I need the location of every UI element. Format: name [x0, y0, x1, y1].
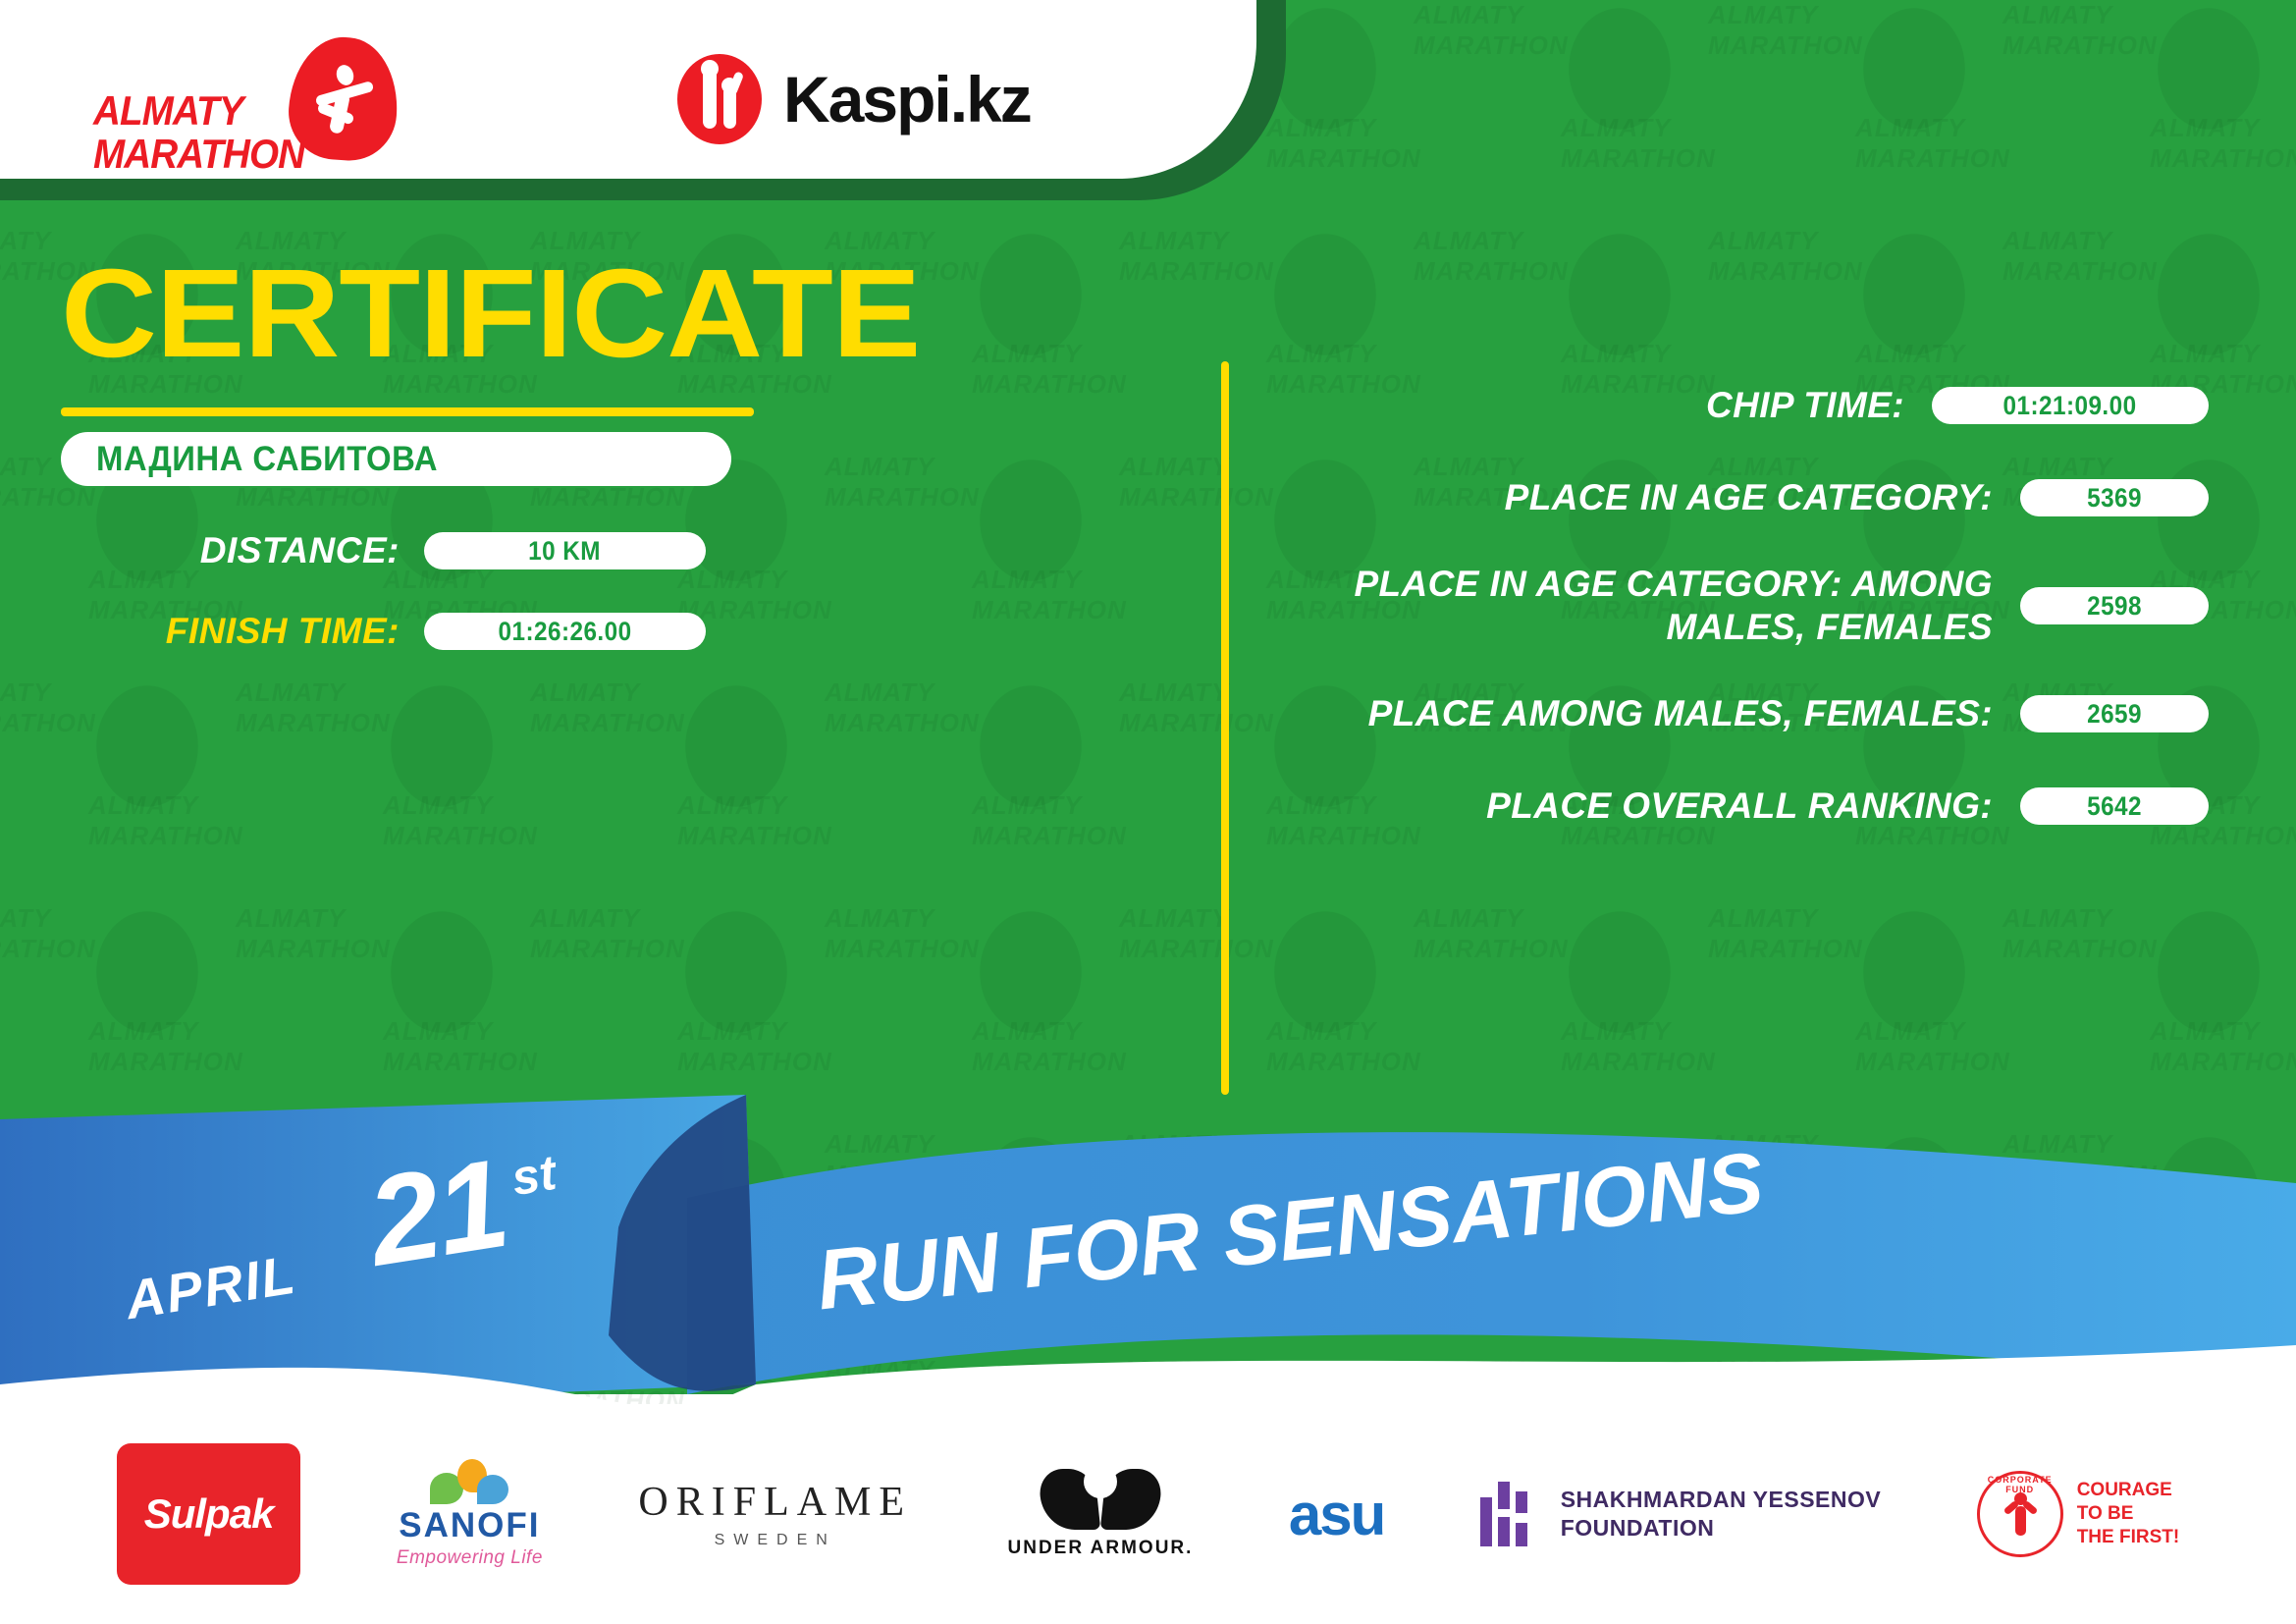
sponsor-oriflame-label: ORIFLAME — [638, 1479, 912, 1526]
stat-label: PLACE AMONG MALES, FEMALES: — [1276, 692, 2020, 735]
stat-value: 5369 — [2087, 483, 2142, 514]
yessenov-foundation-icon — [1480, 1482, 1541, 1546]
sponsor-sanofi-tagline: Empowering Life — [397, 1547, 543, 1569]
stat-value: 5642 — [2087, 791, 2142, 822]
sponsor-courage-fund: CORPORATE FUND COURAGE TO BE THE FIRST! — [1977, 1455, 2180, 1573]
stat-label: PLACE IN AGE CATEGORY: AMONG MALES, FEMA… — [1276, 563, 2020, 649]
sponsor-under-armour-label: UNDER ARMOUR. — [1008, 1538, 1194, 1559]
almaty-marathon-logo-line1: ALMATY — [93, 88, 243, 133]
certificate-row-label: DISTANCE: — [61, 530, 424, 571]
column-divider — [1221, 361, 1229, 1095]
certificate-row-value: 01:26:26.00 — [498, 617, 631, 647]
kaspi-people-icon — [677, 54, 762, 144]
sponsor-courage-label-line2: TO BE — [2077, 1502, 2180, 1526]
event-day-suffix: st — [507, 1144, 560, 1207]
stat-value-pill: 5642 — [2020, 787, 2209, 825]
stat-value-pill: 2598 — [2020, 587, 2209, 624]
sanofi-icon — [428, 1459, 510, 1504]
event-month: APRIL — [121, 1243, 300, 1332]
sponsor-asu: asu — [1289, 1455, 1384, 1573]
sponsor-yessenov-label-line1: SHAKHMARDAN YESSENOV — [1561, 1486, 1882, 1514]
sponsor-sulpak-label: Sulpak — [144, 1490, 274, 1538]
certificate-row-value-pill: 01:26:26.00 — [424, 613, 706, 650]
participant-name-field: МАДИНА САБИТОВА — [61, 432, 731, 486]
event-day: 21 — [360, 1141, 514, 1286]
kaspi-logo: Kaspi.kz — [677, 54, 1031, 144]
certificate-row: DISTANCE:10 KM — [61, 530, 748, 571]
certificate-row-value-pill: 10 KM — [424, 532, 706, 569]
page-title: CERTIFICATE — [61, 250, 920, 378]
certificate-canvas: ALMATYMARATHONALMATYMARATHONALMATYMARATH… — [0, 0, 2296, 1624]
sponsor-sanofi-label: SANOFI — [399, 1506, 540, 1545]
kaspi-logo-text: Kaspi.kz — [783, 62, 1031, 136]
stat-row: PLACE IN AGE CATEGORY:5369 — [1276, 470, 2209, 525]
sponsor-oriflame: ORIFLAME SWEDEN — [638, 1455, 912, 1573]
stat-row: CHIP TIME:01:21:09.00 — [1276, 378, 2209, 433]
runner-figure-icon — [311, 65, 380, 141]
certificate-row-value: 10 KM — [529, 536, 602, 567]
stat-row: PLACE OVERALL RANKING:5642 — [1276, 779, 2209, 834]
stat-label: PLACE IN AGE CATEGORY: — [1276, 476, 2020, 519]
stat-value-pill: 5369 — [2020, 479, 2209, 516]
certificate-left-rows: DISTANCE:10 KMFINISH TIME:01:26:26.00 — [61, 530, 748, 691]
sponsor-courage-label-line1: COURAGE — [2077, 1479, 2180, 1502]
sponsor-yessenov-label-line2: FOUNDATION — [1561, 1514, 1882, 1543]
stat-value-pill: 2659 — [2020, 695, 2209, 732]
stats-list: CHIP TIME:01:21:09.00PLACE IN AGE CATEGO… — [1276, 378, 2209, 871]
sponsor-sanofi: SANOFI Empowering Life — [397, 1455, 543, 1573]
stat-label: CHIP TIME: — [1276, 384, 1932, 427]
stat-value: 01:21:09.00 — [2003, 391, 2137, 421]
under-armour-icon — [1041, 1469, 1160, 1530]
sponsor-asu-label: asu — [1289, 1481, 1384, 1548]
stat-value-pill: 01:21:09.00 — [1932, 387, 2209, 424]
sponsor-under-armour: UNDER ARMOUR. — [1008, 1455, 1194, 1573]
sponsor-bar: Sulpak SANOFI Empowering Life ORIFLAME S… — [0, 1404, 2296, 1624]
certificate-row-label: FINISH TIME: — [61, 611, 424, 652]
title-underline — [61, 407, 754, 416]
participant-name-value: МАДИНА САБИТОВА — [96, 440, 438, 479]
certificate-row: FINISH TIME:01:26:26.00 — [61, 611, 748, 652]
almaty-marathon-logo: ALMATY MARATHON — [93, 37, 407, 160]
courage-fund-icon: CORPORATE FUND — [1977, 1471, 2063, 1557]
stat-row: PLACE IN AGE CATEGORY: AMONG MALES, FEMA… — [1276, 563, 2209, 649]
stat-row: PLACE AMONG MALES, FEMALES:2659 — [1276, 686, 2209, 741]
sponsor-courage-label-line3: THE FIRST! — [2077, 1526, 2180, 1549]
almaty-marathon-logo-line2: MARATHON — [93, 132, 304, 176]
stat-value: 2598 — [2087, 591, 2142, 622]
sponsor-sulpak: Sulpak — [117, 1443, 301, 1585]
sponsor-oriflame-tagline: SWEDEN — [715, 1532, 836, 1549]
stat-label: PLACE OVERALL RANKING: — [1276, 785, 2020, 828]
sponsor-yessenov-foundation: SHAKHMARDAN YESSENOV FOUNDATION — [1480, 1455, 1882, 1573]
courage-fund-top-label: CORPORATE FUND — [1985, 1475, 2056, 1494]
stat-value: 2659 — [2087, 699, 2142, 730]
